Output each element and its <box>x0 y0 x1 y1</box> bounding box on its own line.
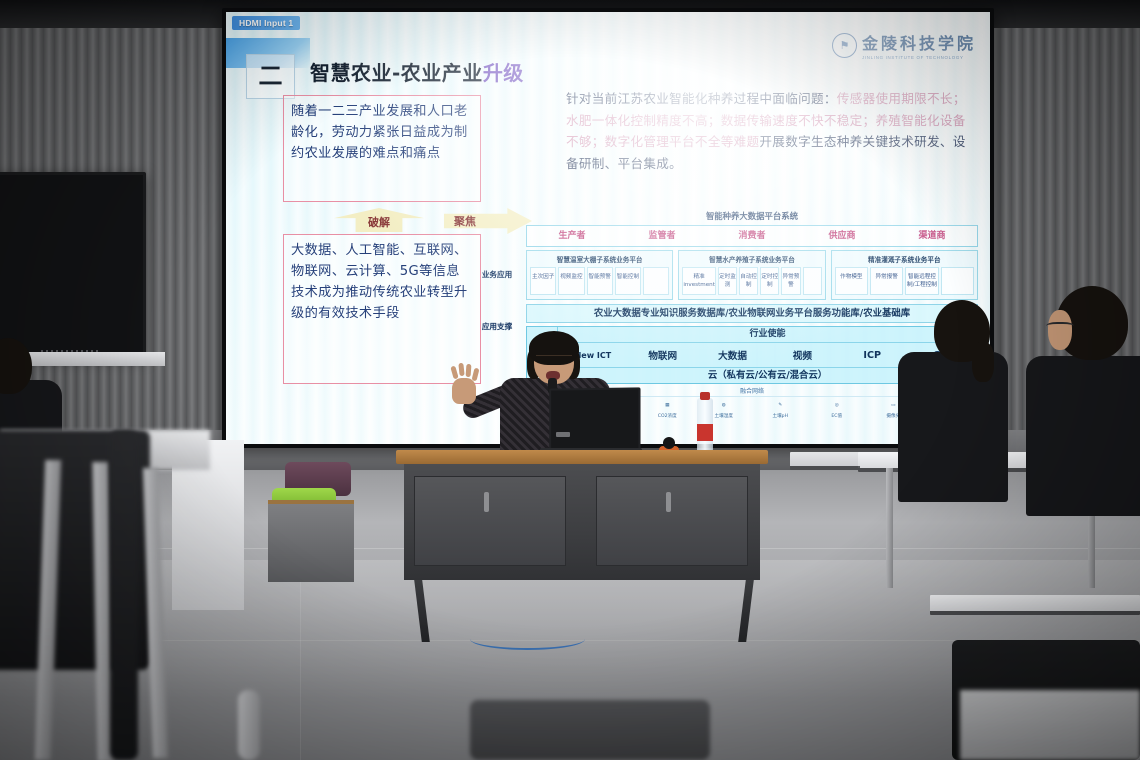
app-group-title: 精准灌溉子系统业务平台 <box>835 254 974 264</box>
desk-microphone <box>663 437 675 449</box>
app-cell <box>643 267 669 295</box>
arrow-right-focus: 聚焦 <box>444 208 532 234</box>
app-group: 智慧温室大棚子系统业务平台 主次因子 视频监控 智能预警 智能控制 <box>526 250 673 300</box>
slide-title-main: 智慧农业-农业产业 <box>310 61 483 85</box>
foreground-chair-rail <box>238 690 260 760</box>
tech-item: 视频 <box>767 348 837 362</box>
desk-panel <box>596 476 748 566</box>
foreground-desk-right <box>960 690 1140 760</box>
left-text-box-1: 随着一二三产业发展和人口老龄化，劳动力紧张日益成为制约农业发展的难点和痛点 <box>283 95 481 202</box>
row-label-support: 应用支撑 <box>472 322 522 332</box>
app-cell: 定时控制 <box>760 267 779 295</box>
wall-mounted-display[interactable] <box>0 172 146 358</box>
role-item: 监管者 <box>617 226 707 246</box>
tech-item: 大数据 <box>698 348 768 362</box>
app-cell: 异常报警 <box>870 267 903 295</box>
tech-item: ICP <box>837 350 907 361</box>
app-cell: 智能远程控制/工程控制 <box>905 267 938 295</box>
chapter-number-box: 二 <box>246 54 295 99</box>
laptop-logo <box>556 432 570 437</box>
app-group: 智慧水产养殖子系统业务平台 精准investment 定时监测 自动控制 定时控… <box>678 250 825 300</box>
lectern-desk-body <box>404 464 760 580</box>
role-item: 生产者 <box>527 226 617 246</box>
sensor-label: EC值 <box>831 414 842 419</box>
foreground-chair-post <box>110 430 138 760</box>
presenter-laptop-screen[interactable] <box>549 387 640 454</box>
app-cell: 智能控制 <box>615 267 641 295</box>
app-cells: 精准investment 定时监测 自动控制 定时控制 异常预警 <box>682 267 821 295</box>
app-cell: 智能预警 <box>587 267 613 295</box>
ec-icon: ◎ <box>809 399 866 412</box>
diagram-title: 智能种养大数据平台系统 <box>526 210 978 222</box>
app-cell: 异常预警 <box>781 267 800 295</box>
app-cell <box>941 267 974 295</box>
app-cell <box>803 267 822 295</box>
bird-emblem-icon: ⚑ <box>832 33 857 58</box>
arrow-up-breakthrough: 破解 <box>334 208 424 232</box>
row-label-business: 业务应用 <box>472 270 522 280</box>
sensor-label: 土壤pH <box>772 414 788 419</box>
app-cell: 视频监控 <box>558 267 584 295</box>
sensor-item: ◎ EC值 <box>809 399 866 419</box>
presenter-left-hand <box>452 378 476 404</box>
app-cells: 作物模型 异常报警 智能远程控制/工程控制 <box>835 267 974 295</box>
app-cell: 定时监测 <box>718 267 737 295</box>
bottle-label <box>697 424 713 441</box>
student-body <box>1026 356 1140 516</box>
presenter-finger <box>466 364 472 377</box>
student-desk-top-back <box>930 595 1140 615</box>
student-desk-leg <box>886 468 893 588</box>
university-logo: ⚑ 金陵科技学院 JINLING INSTITUTE OF TECHNOLOGY <box>832 30 976 60</box>
tech-item: 物联网 <box>628 348 698 362</box>
app-group: 精准灌溉子系统业务平台 作物模型 异常报警 智能远程控制/工程控制 <box>831 250 978 300</box>
classroom-scene: HDMI Input 1 二 智慧农业-农业产业升级 ⚑ 金陵科技学院 JINL… <box>0 0 1140 760</box>
right-paragraph: 针对当前江苏农业智能化种养过程中面临问题：传感器使用期限不长；水肥一体化控制精度… <box>566 88 974 174</box>
app-cells: 主次因子 视频监控 智能预警 智能控制 <box>530 267 669 295</box>
app-cell: 精准investment <box>682 267 716 295</box>
database-bar: 农业大数据专业知识服务数据库/农业物联网业务平台服务功能库/农业基础库 <box>526 304 978 323</box>
left-box-2-text: 大数据、人工智能、互联网、物联网、云计算、5G等信息技术成为推动传统农业转型升级… <box>291 240 473 324</box>
arrow-up-label: 破解 <box>368 214 390 232</box>
lectern-desk-top <box>396 450 768 464</box>
app-group-title: 智慧温室大棚子系统业务平台 <box>530 254 669 264</box>
app-cell: 自动控制 <box>739 267 758 295</box>
floor-cable <box>470 628 585 650</box>
sensor-item: ▦ CO2浓度 <box>639 399 696 419</box>
role-item: 渠道商 <box>887 226 977 246</box>
projected-slide: HDMI Input 1 二 智慧农业-农业产业升级 ⚑ 金陵科技学院 JINL… <box>226 12 990 444</box>
chapter-number: 二 <box>247 61 294 91</box>
role-item: 供应商 <box>797 226 887 246</box>
slide-title: 智慧农业-农业产业升级 <box>310 57 524 86</box>
logo-name-cn: 金陵科技学院 <box>862 30 976 54</box>
student-glasses <box>1046 322 1074 332</box>
cabinet <box>268 500 354 582</box>
logo-name-en: JINLING INSTITUTE OF TECHNOLOGY <box>862 55 976 60</box>
bottle-cap <box>700 392 710 400</box>
sensor-label: CO2浓度 <box>658 414 677 419</box>
diagram-roles-row: 生产者 监管者 消费者 供应商 渠道商 <box>526 225 978 247</box>
sensor-item: ✎ 土壤pH <box>752 399 809 419</box>
arrow-right-label: 聚焦 <box>444 213 476 229</box>
app-group-title: 智慧水产养殖子系统业务平台 <box>682 254 821 264</box>
co2-icon: ▦ <box>639 399 696 412</box>
app-cell: 主次因子 <box>530 267 556 295</box>
desk-handle[interactable] <box>666 492 671 512</box>
presenter-glasses <box>536 355 572 364</box>
student-desk-top-left <box>790 452 860 470</box>
role-item: 消费者 <box>707 226 797 246</box>
hdmi-input-badge: HDMI Input 1 <box>232 16 300 30</box>
student-ponytail <box>972 342 994 382</box>
enabler-bar: 行业使能 <box>558 327 977 343</box>
app-cell: 作物模型 <box>835 267 868 295</box>
left-text-box-2: 大数据、人工智能、互联网、物联网、云计算、5G等信息技术成为推动传统农业转型升级… <box>283 234 481 384</box>
slide-title-highlight: 升级 <box>483 61 524 85</box>
desk-handle[interactable] <box>484 492 489 512</box>
right-paragraph-lead: 针对当前江苏农业智能化种养过程中面临问题： <box>566 91 837 106</box>
business-app-groups: 智慧温室大棚子系统业务平台 主次因子 视频监控 智能预警 智能控制 智慧水产养殖… <box>526 250 978 300</box>
ph-icon: ✎ <box>752 399 809 412</box>
desk-panel <box>414 476 566 566</box>
foreground-chair-right <box>470 700 710 760</box>
left-box-1-text: 随着一二三产业发展和人口老龄化，劳动力紧张日益成为制约农业发展的难点和痛点 <box>291 101 473 164</box>
sensor-label: 土壤湿度 <box>715 414 733 419</box>
